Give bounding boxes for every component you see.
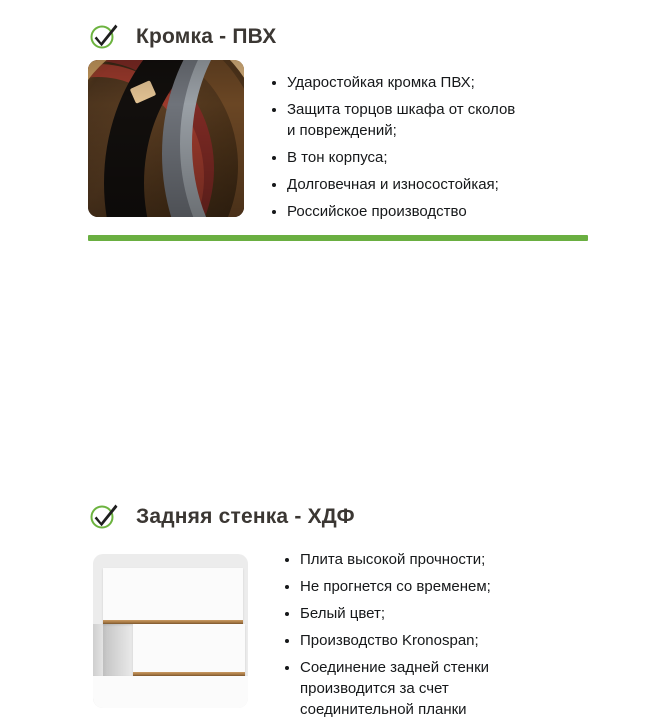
list-item-line2: и повреждений; xyxy=(287,120,600,141)
green-check-circle-icon xyxy=(88,500,120,532)
feature-list-pvc-edge: Ударостойкая кромка ПВХ; Защита торцов ш… xyxy=(270,72,600,222)
list-item-line1: Соединение задней стенки xyxy=(300,659,489,676)
list-item: Долговечная и износостойкая; xyxy=(270,174,600,195)
list-item: Белый цвет; xyxy=(283,603,613,624)
list-item: В тон корпуса; xyxy=(270,147,600,168)
photo-vignette xyxy=(88,60,244,217)
list-item-line1: Плита высокой прочности; xyxy=(300,551,485,568)
hdf-panel-top xyxy=(103,568,243,624)
panel-shadow-inner xyxy=(103,624,133,676)
list-item: Производство Kronospan; xyxy=(283,630,613,651)
section-pvc-edge: Кромка - ПВХ Ударостойкая кромка ПВХ; За… xyxy=(0,0,652,230)
section-hdf-back-panel: Задняя стенка - ХДФ Плита высокой прочно… xyxy=(0,246,652,500)
list-item: Плита высокой прочности; xyxy=(283,549,613,570)
list-item-line3: соединительной планки xyxy=(300,699,613,720)
infographic-page: Кромка - ПВХ Ударостойкая кромка ПВХ; За… xyxy=(0,0,652,500)
list-item-line1: Белый цвет; xyxy=(300,605,385,622)
section-heading-hdf-back-panel: Задняя стенка - ХДФ xyxy=(88,500,355,532)
pvc-edge-banding-photo xyxy=(88,60,244,217)
list-item-line1: Долговечная и износостойкая; xyxy=(287,176,499,193)
list-item: Соединение задней стенки производится за… xyxy=(283,657,613,720)
page-title: Кромка - ПВХ xyxy=(136,26,276,47)
list-item-line1: Производство Kronospan; xyxy=(300,632,479,649)
list-item: Не прогнется со временем; xyxy=(283,576,613,597)
hdf-panel-middle xyxy=(133,624,245,676)
list-item-line1: Российское производство xyxy=(287,203,467,220)
list-item-line1: Ударостойкая кромка ПВХ; xyxy=(287,74,475,91)
list-item-line1: Не прогнется со временем; xyxy=(300,578,491,595)
hdf-panel-bottom xyxy=(93,676,248,708)
list-item: Российское производство xyxy=(270,201,600,222)
feature-list-hdf-back-panel: Плита высокой прочности; Не прогнется со… xyxy=(283,549,613,720)
green-divider xyxy=(88,235,588,241)
hdf-back-panel-photo xyxy=(93,554,248,708)
green-check-circle-icon xyxy=(88,20,120,52)
section-heading-pvc-edge: Кромка - ПВХ xyxy=(88,20,276,52)
list-item: Защита торцов шкафа от сколов и поврежде… xyxy=(270,99,600,141)
page-title: Задняя стенка - ХДФ xyxy=(136,506,355,527)
list-item-line1: Защита торцов шкафа от сколов xyxy=(287,101,515,118)
list-item: Ударостойкая кромка ПВХ; xyxy=(270,72,600,93)
list-item-line1: В тон корпуса; xyxy=(287,149,388,166)
list-item-line2: производится за счет xyxy=(300,678,613,699)
